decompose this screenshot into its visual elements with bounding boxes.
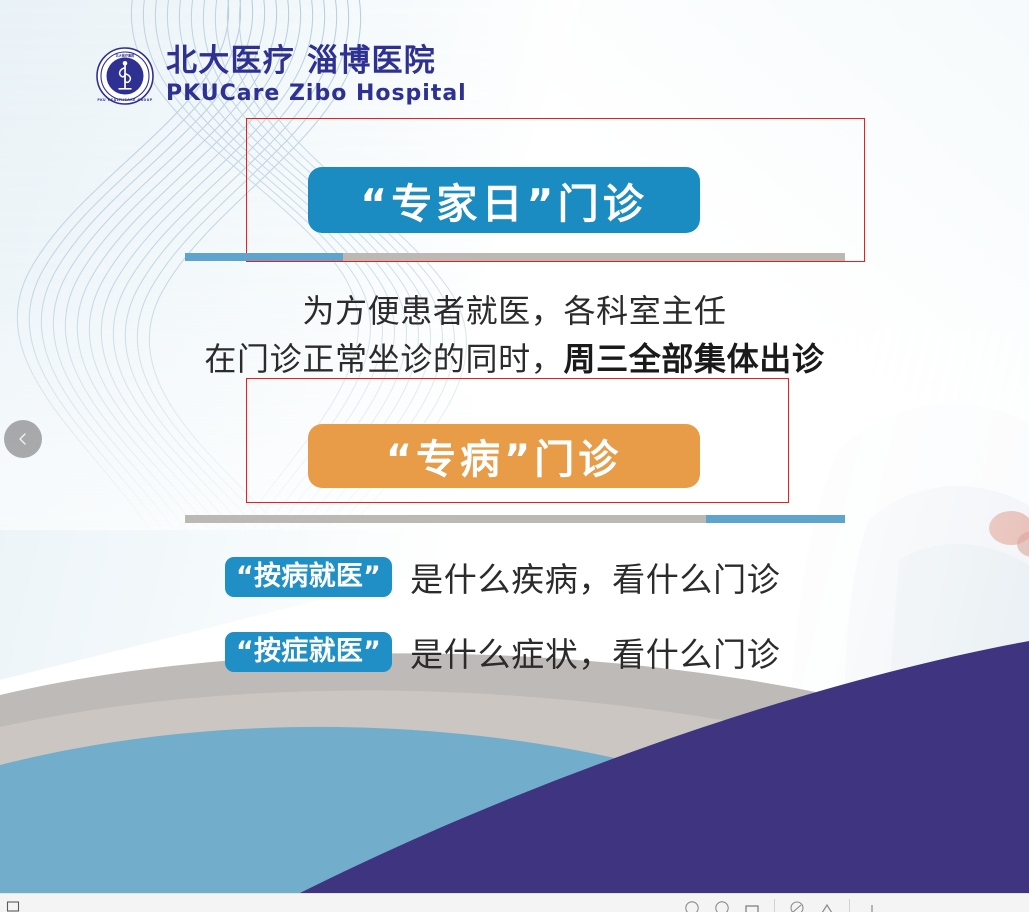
carousel-prev-button[interactable] — [4, 420, 42, 458]
svg-text:北大医疗集团: 北大医疗集团 — [116, 52, 135, 57]
logo-name-cn: 北大医疗 淄博医院 — [166, 46, 467, 77]
svg-text:PKU HEALTHCARE GROUP: PKU HEALTHCARE GROUP — [97, 98, 153, 102]
icon-separator — [849, 899, 850, 912]
bottom-icon-group — [684, 897, 880, 912]
chip-by-symptom[interactable]: “按症就医” — [225, 632, 392, 672]
paragraph-line-1: 为方便患者就医，各科室主任 — [0, 286, 1029, 332]
doctor-photo — [749, 330, 1029, 770]
paragraph-line-2: 在门诊正常坐诊的同时，周三全部集体出诊 — [0, 334, 1029, 380]
divider-segment-blue — [706, 515, 845, 523]
caret-up-icon[interactable] — [819, 897, 835, 912]
divider-segment-gray — [343, 253, 845, 261]
square-outline-icon[interactable] — [6, 898, 20, 912]
vertical-bar-icon[interactable] — [864, 897, 880, 912]
divider-segment-blue — [185, 253, 343, 261]
logo-name-en: PKUCare Zibo Hospital — [166, 83, 467, 105]
paragraph-line-2-emphasis: 周三全部集体出诊 — [563, 340, 824, 378]
divider-bar-top — [185, 253, 845, 261]
tag-row-by-disease: “按病就医” 是什么疾病，看什么门诊 — [225, 553, 780, 601]
chip-by-disease[interactable]: “按病就医” — [225, 557, 392, 597]
paragraph-line-2-normal: 在门诊正常坐诊的同时， — [204, 340, 563, 378]
chevron-left-icon — [15, 431, 31, 447]
icon-separator — [774, 899, 775, 912]
special-disease-pill[interactable]: “专病”门诊 — [308, 424, 700, 488]
circle-slash-icon[interactable] — [789, 897, 805, 912]
hospital-logo[interactable]: 北大医疗集团 PKU HEALTHCARE GROUP 北大医疗 淄博医院 PK… — [96, 46, 467, 105]
circle-outline-icon[interactable] — [684, 897, 700, 912]
hospital-promo-banner-slide[interactable]: 北大医疗集团 PKU HEALTHCARE GROUP 北大医疗 淄博医院 PK… — [0, 0, 1029, 893]
circle-outline-icon[interactable] — [714, 897, 730, 912]
tag-text-by-symptom: 是什么症状，看什么门诊 — [410, 628, 780, 676]
expert-day-pill[interactable]: “专家日”门诊 — [308, 167, 700, 233]
divider-bar-bottom — [185, 515, 845, 523]
browser-viewport: 北大医疗集团 PKU HEALTHCARE GROUP 北大医疗 淄博医院 PK… — [0, 0, 1029, 912]
pkucare-seal-emblem-icon: 北大医疗集团 PKU HEALTHCARE GROUP — [96, 47, 154, 105]
browser-bottom-bar — [0, 893, 1029, 912]
rectangle-outline-icon[interactable] — [744, 897, 760, 912]
tag-text-by-disease: 是什么疾病，看什么门诊 — [410, 553, 780, 601]
tag-row-by-symptom: “按症就医” 是什么症状，看什么门诊 — [225, 628, 780, 676]
divider-segment-gray — [185, 515, 706, 523]
